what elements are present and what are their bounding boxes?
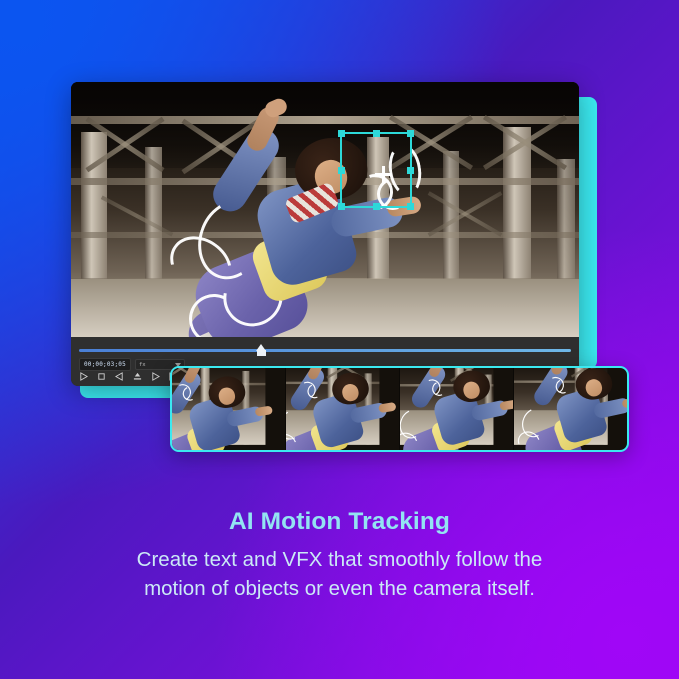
tracker-handle-n[interactable] — [373, 130, 380, 137]
filmstrip-frame[interactable] — [514, 368, 627, 450]
filmstrip-frame[interactable] — [400, 368, 514, 450]
tracker-handle-s[interactable] — [373, 203, 380, 210]
right-arm — [499, 400, 514, 411]
tracker-handle-nw[interactable] — [338, 130, 345, 137]
tracker-crosshair-icon — [375, 166, 392, 183]
filmstrip-frame[interactable] — [172, 368, 286, 450]
tracker-handle-sw[interactable] — [338, 203, 345, 210]
right-arm — [255, 406, 273, 417]
playback-controls — [79, 372, 180, 381]
effect-select-value: fx — [139, 362, 146, 368]
tracker-handle-w[interactable] — [338, 167, 345, 174]
cross-brace — [101, 195, 174, 236]
video-editor-window: 00;00;03;05 fx — [71, 82, 579, 386]
caption-subtitle-line2: motion of objects or even the camera its… — [144, 577, 535, 600]
filmstrip-frame[interactable] — [286, 368, 400, 450]
video-preview[interactable] — [71, 82, 579, 337]
tracker-handle-se[interactable] — [407, 203, 414, 210]
timecode-display[interactable]: 00;00;03;05 — [79, 358, 131, 371]
step-back-button[interactable] — [115, 372, 124, 381]
dancer-subject — [172, 368, 272, 450]
stop-button[interactable] — [97, 372, 106, 381]
tracker-handle-e[interactable] — [407, 167, 414, 174]
caption-subtitle-line1: Create text and VFX that smoothly follow… — [137, 548, 543, 571]
frame-thumbnail — [514, 368, 607, 445]
frame-thumbnail — [286, 368, 379, 445]
dancer-subject — [286, 368, 396, 450]
frame-thumbnail — [172, 368, 265, 445]
tracker-handle-ne[interactable] — [407, 130, 414, 137]
scrubber-track — [79, 349, 571, 352]
dancer-subject — [401, 368, 514, 450]
caption-block: AI Motion Tracking Create text and VFX t… — [0, 508, 679, 603]
timecode-row: 00;00;03;05 fx — [79, 358, 185, 371]
export-frame-button[interactable] — [133, 372, 142, 381]
timeline-scrubber[interactable] — [79, 346, 571, 354]
tracked-frames-filmstrip[interactable] — [170, 366, 629, 452]
page-title: AI Motion Tracking — [0, 508, 679, 536]
play-button[interactable] — [79, 372, 88, 381]
playhead-handle[interactable] — [256, 344, 267, 356]
step-forward-button[interactable] — [151, 372, 160, 381]
right-arm — [378, 402, 396, 413]
frame-thumbnail — [400, 368, 493, 445]
promo-card: 00;00;03;05 fx — [0, 0, 679, 679]
caption-subtitle: Create text and VFX that smoothly follow… — [0, 545, 679, 603]
